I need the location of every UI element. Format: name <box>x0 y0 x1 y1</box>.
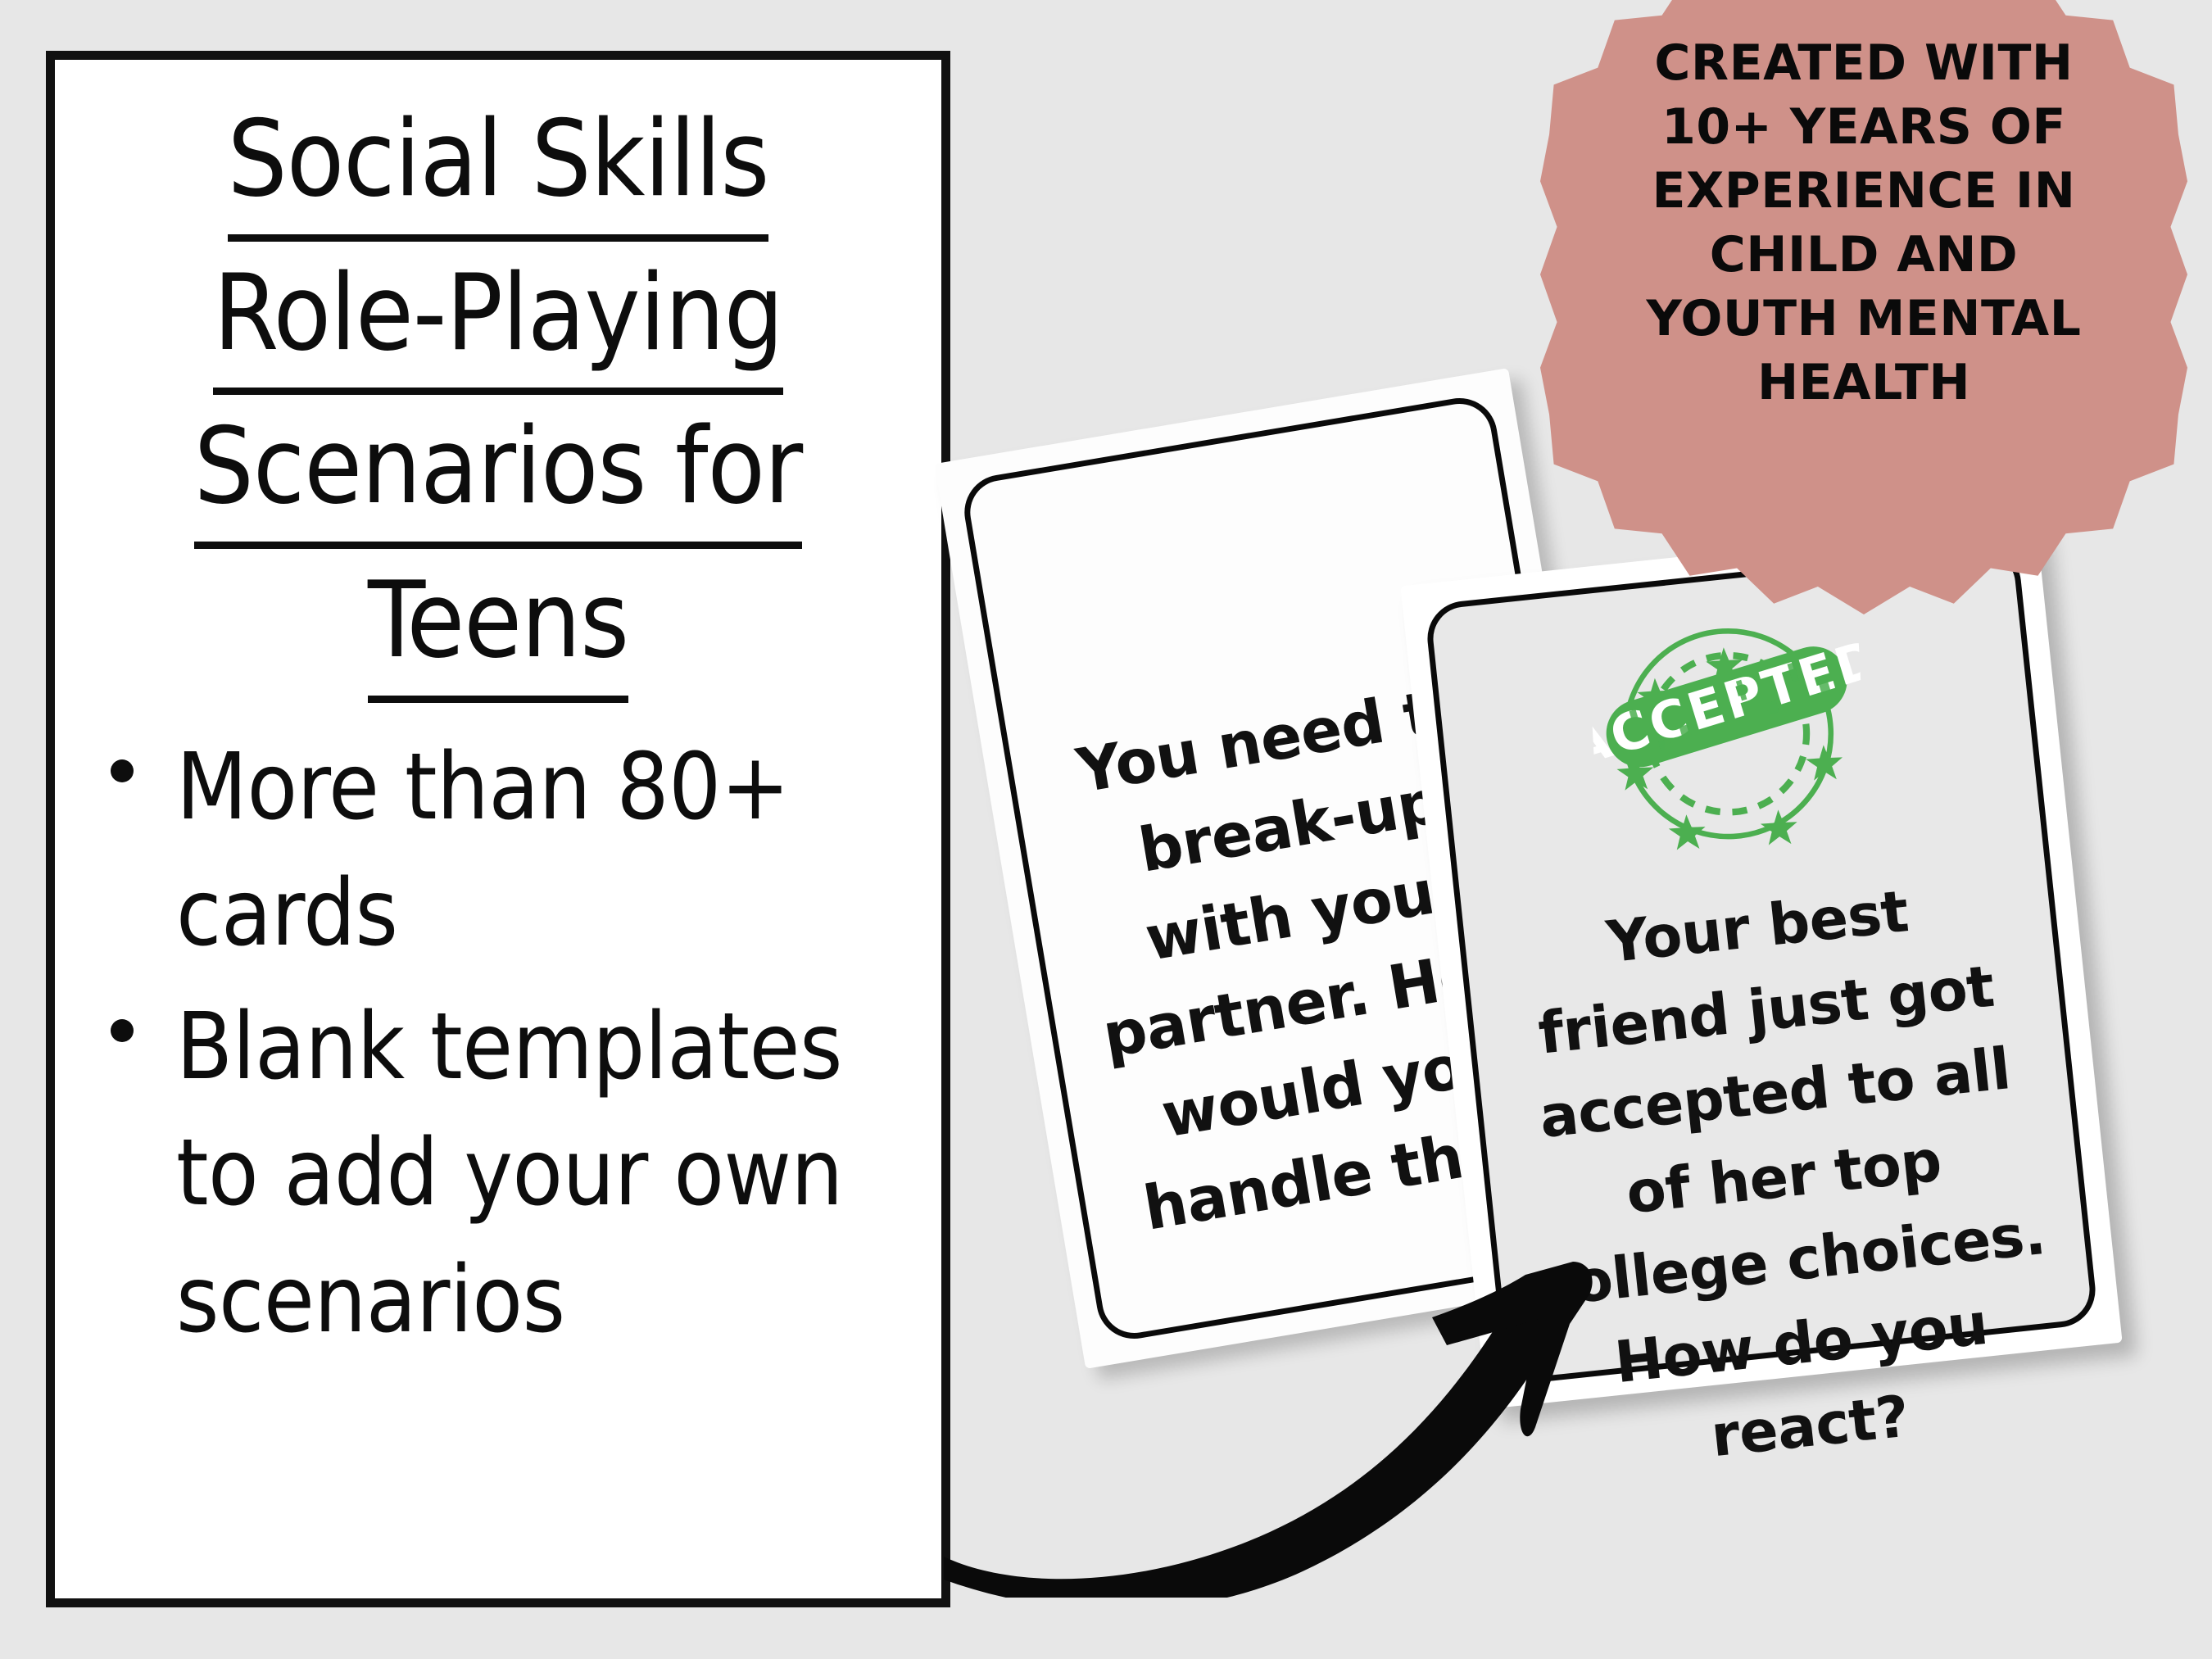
scenario-card-front: ACCEPTED Your best friend just got accep… <box>1400 519 2122 1409</box>
accepted-stamp-icon: ACCEPTED <box>1586 592 1870 876</box>
title-line: Teens <box>368 549 628 703</box>
bullet-dot-icon <box>111 759 134 782</box>
page-title: Social Skills Role-Playing Scenarios for… <box>76 88 920 703</box>
title-line: Social Skills <box>228 88 769 242</box>
title-line: Scenarios for <box>194 395 802 549</box>
bullet-dot-icon <box>111 1019 134 1042</box>
info-panel: Social Skills Role-Playing Scenarios for… <box>46 51 950 1607</box>
list-item: Blank templates to add your own scenario… <box>97 984 912 1364</box>
badge-text: CREATED WITH 10+ YEARS OF EXPERIENCE IN … <box>1540 31 2187 415</box>
info-panel-inner: Social Skills Role-Playing Scenarios for… <box>55 60 941 1598</box>
poster-canvas: Social Skills Role-Playing Scenarios for… <box>0 0 2212 1659</box>
bullet-text: Blank templates to add your own scenario… <box>176 994 843 1353</box>
feature-bullet-list: More than 80+ cards Blank templates to a… <box>76 724 920 1371</box>
experience-badge: CREATED WITH 10+ YEARS OF EXPERIENCE IN … <box>1540 0 2187 614</box>
bullet-text: More than 80+ cards <box>176 734 790 968</box>
list-item: More than 80+ cards <box>97 724 912 977</box>
title-line: Role-Playing <box>213 242 782 396</box>
